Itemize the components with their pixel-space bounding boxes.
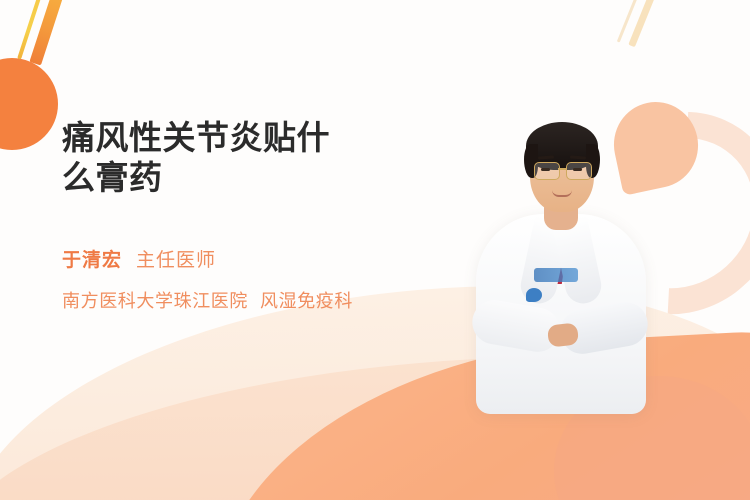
doctor-name-line: 于清宏主任医师 [62, 248, 216, 274]
doctor-portrait [468, 92, 652, 414]
doctor-name: 于清宏 [62, 250, 122, 271]
orange-circle-decoration [0, 58, 58, 150]
doctor-hospital: 南方医科大学珠江医院 [62, 291, 248, 311]
top-left-stripe-group [22, 0, 112, 66]
doctor-affiliation-line: 南方医科大学珠江医院风湿免疫科 [62, 288, 353, 314]
glasses-bridge-icon [558, 168, 566, 170]
doctor-department: 风湿免疫科 [260, 291, 353, 311]
page-title: 痛风性关节炎贴什 么膏药 [62, 118, 422, 198]
top-right-stripe-group [630, 0, 720, 60]
doctor-health-banner: 痛风性关节炎贴什 么膏药 于清宏主任医师 南方医科大学珠江医院风湿免疫科 [0, 0, 750, 500]
doctor-eye-right [573, 168, 582, 171]
doctor-badge-icon [526, 288, 542, 302]
doctor-eye-left [541, 168, 550, 171]
glasses-lens-right-icon [566, 162, 592, 180]
glasses-lens-left-icon [534, 162, 560, 180]
hospital-logo-icon [534, 268, 578, 282]
doctor-rank: 主任医师 [136, 250, 216, 271]
